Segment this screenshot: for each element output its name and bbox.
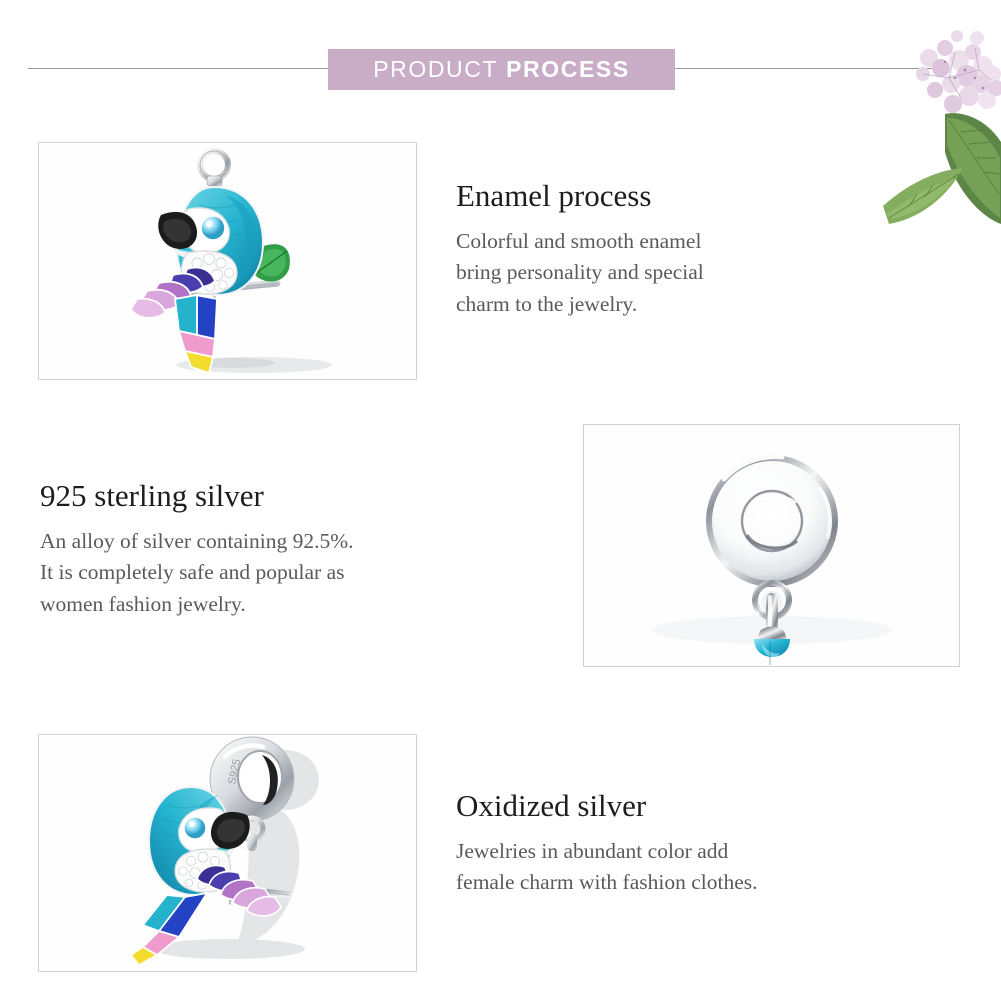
oxidized-parrot-dangle-photo: S925: [39, 735, 416, 971]
oxidized-body: Jewelries in abundant color add female c…: [456, 836, 926, 899]
page-title-banner: PRODUCT PROCESS: [328, 49, 675, 90]
sterling-body-line: An alloy of silver containing 92.5%.: [40, 526, 540, 557]
sterling-title: 925 sterling silver: [40, 478, 540, 514]
sterling-body: An alloy of silver containing 92.5%. It …: [40, 526, 540, 620]
enamel-process-image: [38, 142, 417, 380]
enamel-title: Enamel process: [456, 178, 856, 214]
oxidized-body-line: female charm with fashion clothes.: [456, 867, 926, 898]
oxidized-title: Oxidized silver: [456, 788, 926, 824]
product-process-page: PRODUCT PROCESS: [0, 0, 1001, 1001]
enamel-body-line: charm to the jewelry.: [456, 289, 856, 320]
page-header: PRODUCT PROCESS: [0, 0, 1001, 110]
sterling-body-line: women fashion jewelry.: [40, 589, 540, 620]
enamel-text-block: Enamel process Colorful and smooth ename…: [456, 178, 856, 320]
enamel-body: Colorful and smooth enamel bring persona…: [456, 226, 856, 320]
parrot-enamel-charm-photo: [39, 143, 416, 379]
enamel-body-line: Colorful and smooth enamel: [456, 226, 856, 257]
sterling-silver-bead-photo: [584, 425, 959, 666]
header-rule-left: [28, 68, 328, 69]
sterling-body-line: It is completely safe and popular as: [40, 557, 540, 588]
oxidized-silver-image: S925: [38, 734, 417, 972]
enamel-body-line: bring personality and special: [456, 257, 856, 288]
silver-donut-bead: [706, 455, 838, 587]
oxidized-body-line: Jewelries in abundant color add: [456, 836, 926, 867]
sterling-text-block: 925 sterling silver An alloy of silver c…: [40, 478, 540, 620]
banner-word-product: PRODUCT: [373, 56, 498, 83]
header-rule-right: [675, 68, 937, 69]
banner-word-process: PROCESS: [506, 56, 630, 83]
sterling-silver-image: [583, 424, 960, 667]
oxidized-text-block: Oxidized silver Jewelries in abundant co…: [456, 788, 926, 899]
